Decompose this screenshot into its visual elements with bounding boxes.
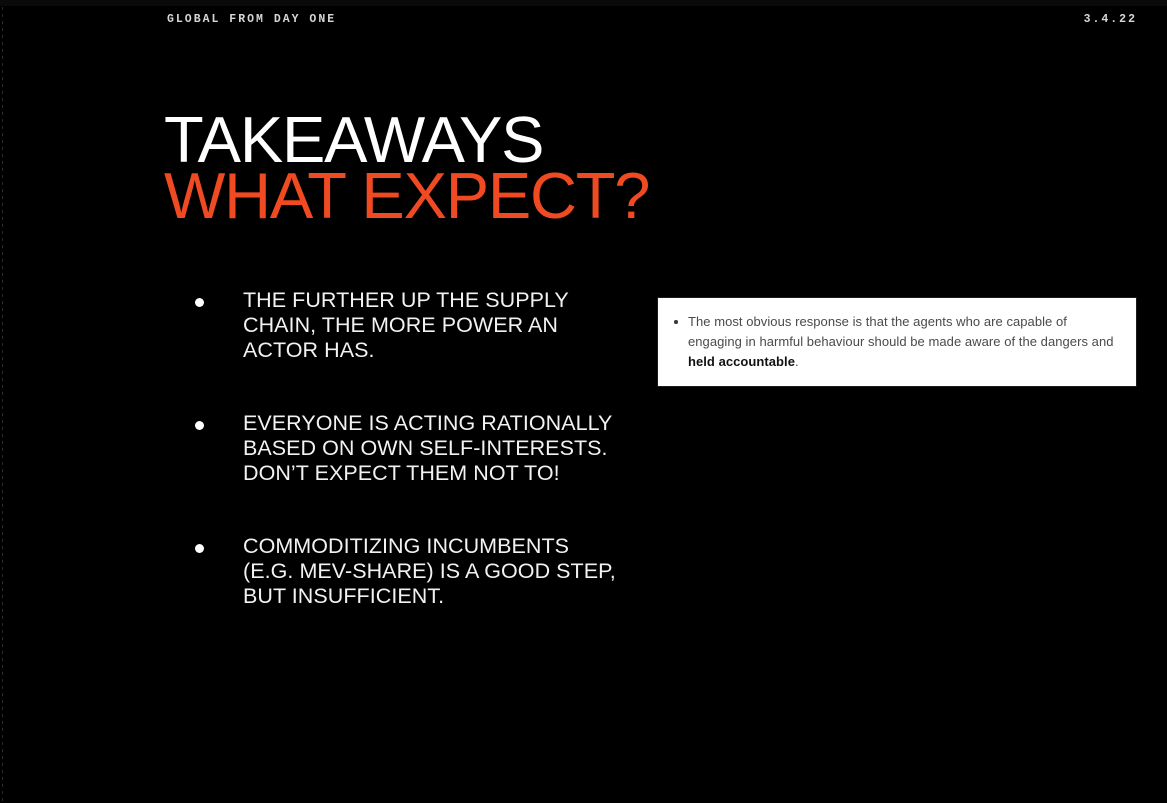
list-item-label: THE FURTHER UP THE SUPPLY CHAIN, THE MOR… <box>243 288 616 363</box>
slide-canvas: GLOBAL FROM DAY ONE 3.4.22 TAKEAWAYS WHA… <box>0 0 1167 803</box>
bullet-dot-icon <box>195 298 204 307</box>
callout-text: The most obvious response is that the ag… <box>688 314 1114 369</box>
list-item: THE FURTHER UP THE SUPPLY CHAIN, THE MOR… <box>186 288 616 363</box>
running-header-brand: GLOBAL FROM DAY ONE <box>167 13 336 26</box>
callout-text-before: The most obvious response is that the ag… <box>688 314 1114 349</box>
callout-text-after: . <box>795 354 799 369</box>
list-item-label: COMMODITIZING INCUMBENTS (E.G. MEV-SHARE… <box>243 534 616 609</box>
takeaways-list: THE FURTHER UP THE SUPPLY CHAIN, THE MOR… <box>186 288 616 609</box>
callout-emphasis: held accountable <box>688 354 795 369</box>
callout-card: The most obvious response is that the ag… <box>657 297 1137 387</box>
page-title: TAKEAWAYS WHAT EXPECT? <box>164 112 649 224</box>
slide-top-band <box>0 0 1167 6</box>
page-title-line-2: WHAT EXPECT? <box>164 168 649 224</box>
list-item: EVERYONE IS ACTING RATIONALLY BASED ON O… <box>186 411 616 486</box>
list-item-label: EVERYONE IS ACTING RATIONALLY BASED ON O… <box>243 411 616 486</box>
list-item: COMMODITIZING INCUMBENTS (E.G. MEV-SHARE… <box>186 534 616 609</box>
bullet-dot-icon <box>195 421 204 430</box>
callout-list-item: The most obvious response is that the ag… <box>668 312 1120 372</box>
callout-bullet-dot-icon <box>674 320 678 324</box>
slide-edge-guide <box>2 0 3 803</box>
bullet-dot-icon <box>195 544 204 553</box>
running-header-date: 3.4.22 <box>1084 13 1137 26</box>
